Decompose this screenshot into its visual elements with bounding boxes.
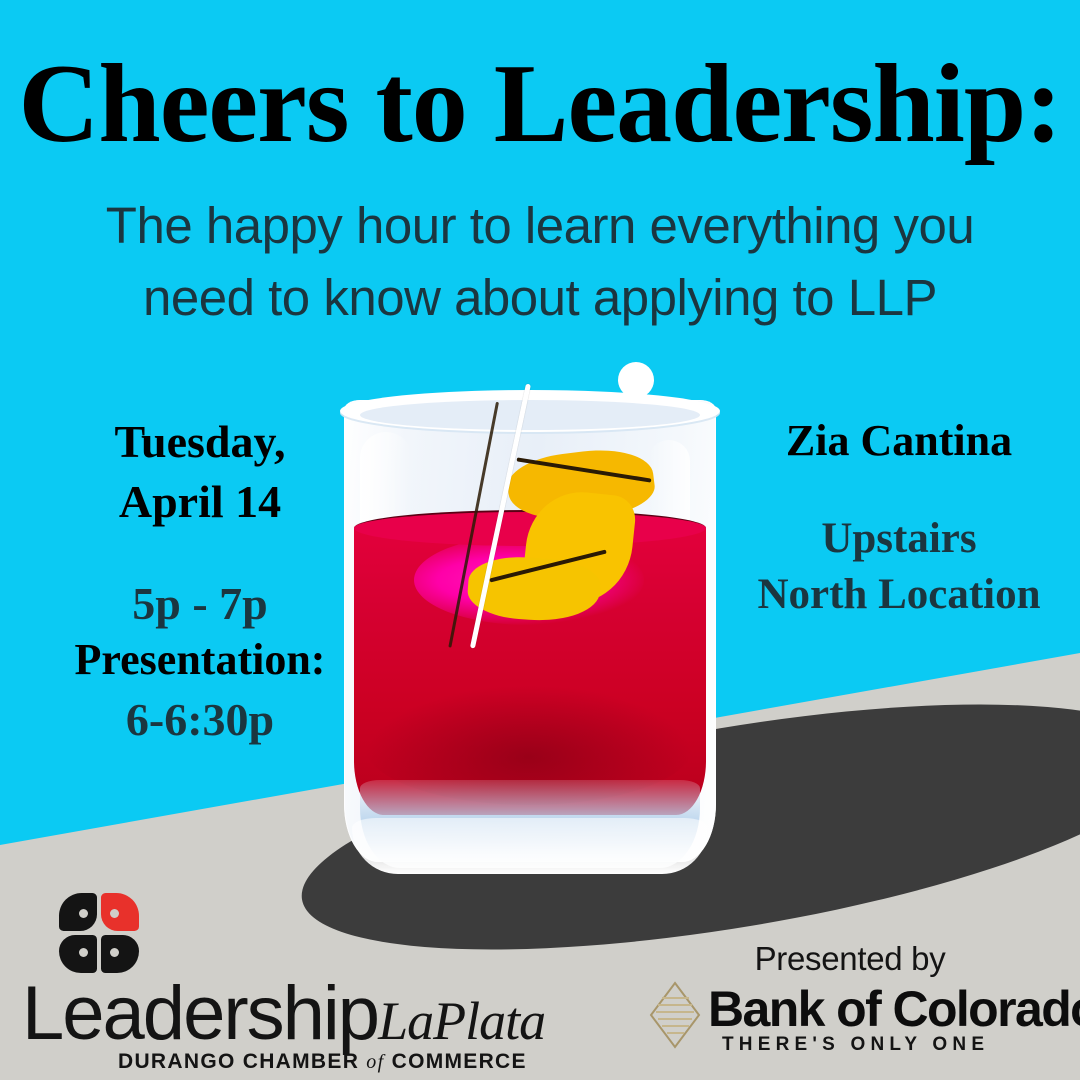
glass-inner-rim [360,400,700,430]
event-poster: Cheers to Leadership: The happy hour to … [0,0,1080,1080]
venue-block: Zia Cantina Upstairs North Location [724,412,1074,623]
event-details-block: Tuesday, April 14 5p - 7p Presentation: … [40,412,360,752]
presentation-label: Presentation: [40,633,360,687]
bank-slogan: THERE'S ONLY ONE [722,1034,989,1056]
pinwheel-icon [58,892,142,976]
page-subtitle: The happy hour to learn everything you n… [36,190,1044,335]
subtitle-line-1: The happy hour to learn everything you [36,190,1044,262]
bank-logo-row: Bank of Colorado THERE'S ONLY ONE [630,982,1070,1038]
cocktail-pick-knob [618,362,654,398]
pinwheel-petal-bottom-right [101,935,139,973]
event-time: 5p - 7p [40,574,360,634]
leadership-laplata-logo: LeadershipLaPlata DURANGO CHAMBER of COM… [18,888,548,1060]
bank-name: Bank of Colorado [708,980,1080,1038]
pinwheel-petal-top-right [101,893,139,931]
diamond-icon [648,980,702,1050]
tagline-of: of [366,1051,384,1073]
leadership-word-accent: LaPlata [378,991,545,1051]
venue-name: Zia Cantina [724,412,1074,469]
venue-detail-2: North Location [724,567,1074,623]
leadership-wordmark: LeadershipLaPlata [22,970,545,1057]
pinwheel-petal-bottom-left [59,935,97,973]
chamber-tagline: DURANGO CHAMBER of COMMERCE [118,1050,527,1074]
tagline-after: COMMERCE [384,1050,526,1073]
subtitle-line-2: need to know about applying to LLP [36,262,1044,334]
presented-by-label: Presented by [630,940,1070,978]
cocktail-glass-illustration [330,340,730,880]
bank-of-colorado-logo: Presented by Bank of Colorado THERE'S ON… [630,940,1070,1065]
presentation-time: 6-6:30p [40,687,360,752]
pinwheel-petal-top-left [59,893,97,931]
petal-hole [110,909,119,918]
petal-hole [79,948,88,957]
tagline-before: DURANGO CHAMBER [118,1050,366,1073]
petal-hole [110,948,119,957]
petal-hole [79,909,88,918]
page-title: Cheers to Leadership: [0,48,1080,160]
leadership-word-main: Leadership [22,971,378,1056]
event-date: April 14 [40,472,360,532]
glass-base-bottom [352,818,708,874]
venue-detail-1: Upstairs [724,511,1074,567]
event-day: Tuesday, [40,412,360,472]
